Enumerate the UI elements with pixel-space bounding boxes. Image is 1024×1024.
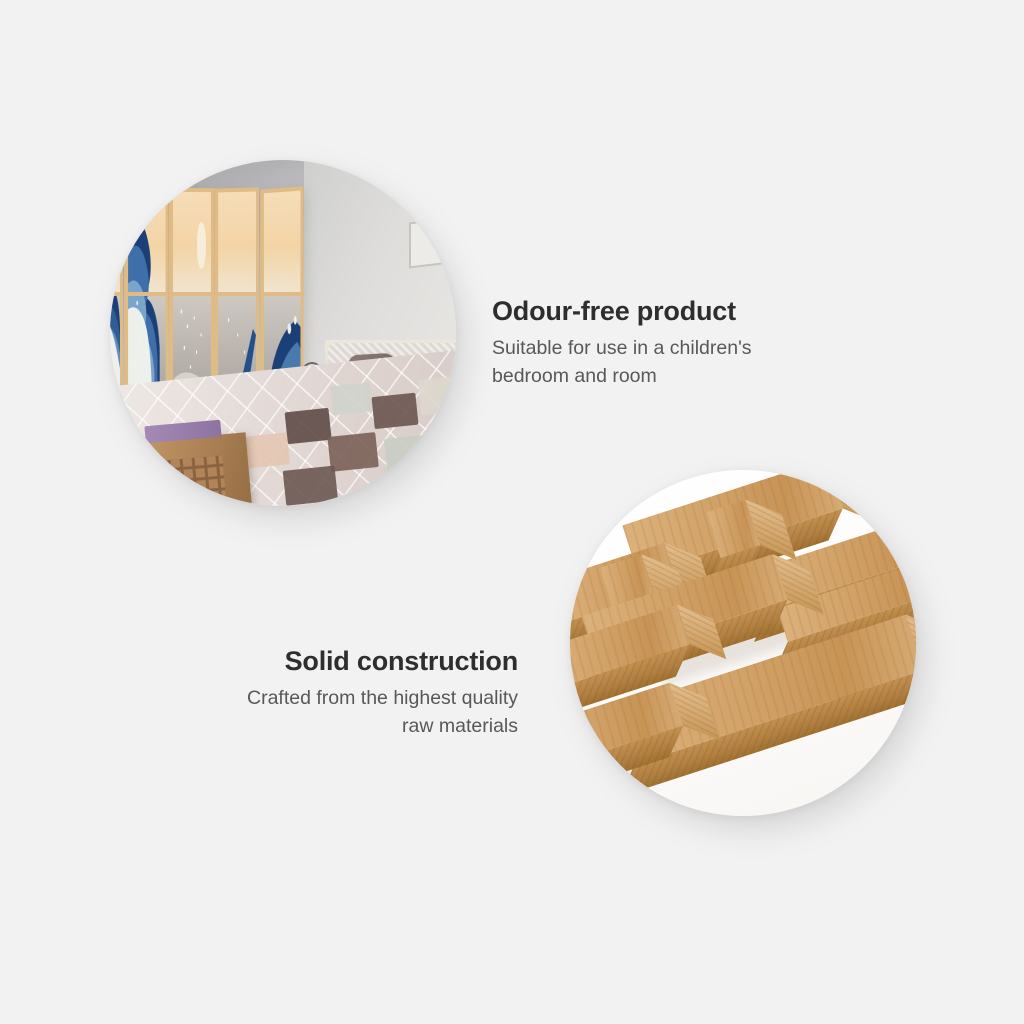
quilt-patch (282, 466, 338, 506)
feature-subtitle-solid-construction: Crafted from the highest quality raw mat… (140, 685, 518, 740)
great-wave-artwork-part-1 (110, 190, 120, 406)
wicker-lattice (143, 455, 227, 506)
feature-text-odour-free: Odour-free product Suitable for use in a… (492, 295, 892, 391)
feature-text-solid-construction: Solid construction Crafted from the high… (140, 645, 518, 741)
quilt-patch (330, 383, 373, 416)
divider-panel-2 (124, 187, 168, 410)
feature-title-solid-construction: Solid construction (140, 645, 518, 677)
bedroom-scene (110, 160, 456, 506)
quilt-patch (418, 376, 456, 416)
divider-panel-1 (110, 186, 123, 411)
stacked-timber-beams-photo (570, 470, 916, 816)
quilt-patch (327, 432, 379, 472)
quilt-patch (439, 417, 456, 457)
quilt-patch (384, 435, 436, 475)
feature-title-odour-free: Odour-free product (492, 295, 892, 327)
infographic-canvas: Odour-free product Suitable for use in a… (0, 0, 1024, 1024)
great-wave-artwork-part-2 (128, 191, 166, 406)
bedroom-with-folding-screen-photo (110, 160, 456, 506)
timber-scene (570, 470, 916, 816)
feature-subtitle-odour-free: Suitable for use in a children's bedroom… (492, 335, 892, 390)
wall-picture-frame (409, 215, 456, 268)
wicker-side-table (135, 432, 252, 506)
quilt-patch (372, 393, 419, 429)
quilt-patch (284, 408, 331, 444)
great-wave-artwork-part-3 (173, 192, 211, 406)
